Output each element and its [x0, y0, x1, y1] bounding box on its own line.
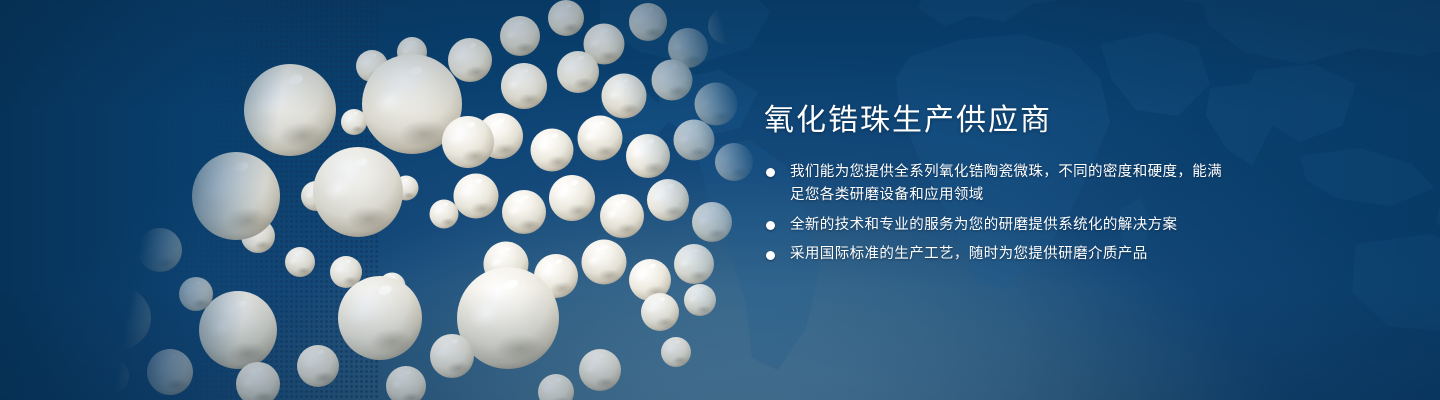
banner-copy-block: 氧化锆珠生产供应商 我们能为您提供全系列氧化锆陶瓷微珠，不同的密度和硬度，能满足…	[764, 104, 1234, 267]
list-item-text: 我们能为您提供全系列氧化锆陶瓷微珠，不同的密度和硬度，能满足您各类研磨设备和应用…	[790, 164, 1222, 204]
list-item-text: 全新的技术和专业的服务为您的研磨提供系统化的解决方案	[790, 217, 1177, 233]
bullet-dot-icon	[766, 251, 775, 260]
bullet-dot-icon	[766, 168, 775, 177]
bullet-dot-icon	[766, 221, 775, 230]
list-item-text: 采用国际标准的生产工艺，随时为您提供研磨介质产品	[790, 246, 1148, 262]
feature-list: 我们能为您提供全系列氧化锆陶瓷微珠，不同的密度和硬度，能满足您各类研磨设备和应用…	[764, 161, 1234, 267]
list-item: 全新的技术和专业的服务为您的研磨提供系统化的解决方案	[764, 214, 1234, 238]
hero-banner: 氧化锆珠生产供应商 我们能为您提供全系列氧化锆陶瓷微珠，不同的密度和硬度，能满足…	[0, 0, 1440, 400]
page-title: 氧化锆珠生产供应商	[764, 104, 1234, 139]
list-item: 采用国际标准的生产工艺，随时为您提供研磨介质产品	[764, 243, 1234, 267]
list-item: 我们能为您提供全系列氧化锆陶瓷微珠，不同的密度和硬度，能满足您各类研磨设备和应用…	[764, 161, 1234, 208]
